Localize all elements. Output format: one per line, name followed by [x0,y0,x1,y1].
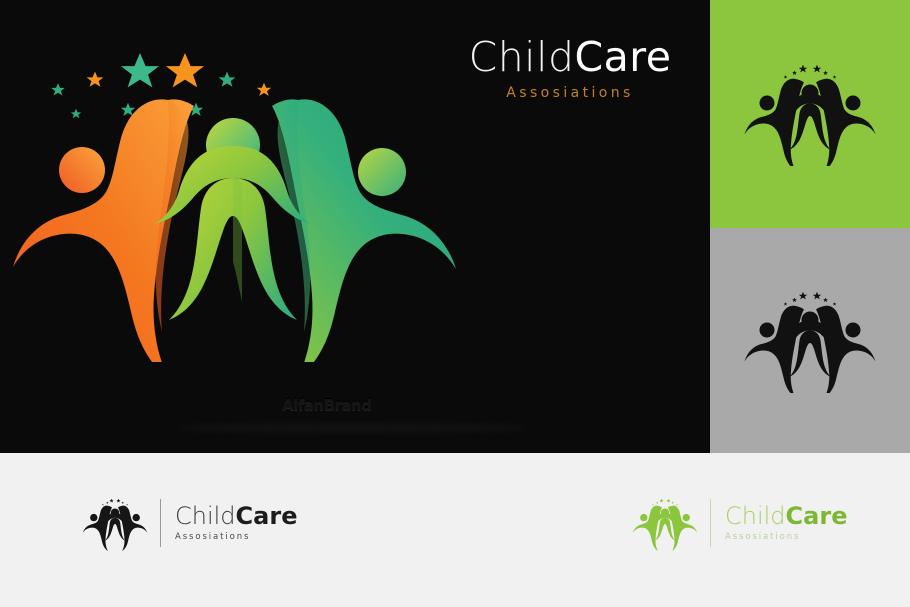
lockup-divider [710,499,711,547]
lockup-green: ChildCare Assosiations [628,495,847,551]
bottom-lockup-band: ChildCare Assosiations [0,453,910,607]
lockup-title-part1: Child [175,502,236,530]
lockup-text-green: ChildCare Assosiations [725,504,847,542]
swatch-green-panel [710,0,910,228]
hero-tagline: Assosiations [450,85,690,101]
lockup-title: ChildCare [725,504,847,528]
hero-wordmark: ChildCare Assosiations [450,33,690,101]
brand-name-part1: Child [469,33,575,81]
childcare-logo-mark-color [8,52,488,362]
lockup-title-part1: Child [725,502,786,530]
childcare-logo-mark-black-on-gray [735,289,885,393]
swatch-gray-panel [710,228,910,453]
lockup-text-black: ChildCare Assosiations [175,504,297,542]
hero-brand-name: ChildCare [450,33,690,81]
logo-presentation-canvas: ChildCare Assosiations AlfanBrand [0,0,910,607]
childcare-logo-mark-green [628,495,702,551]
lockup-subtitle: Assosiations [725,533,847,542]
right-figure-green [272,99,456,362]
hero-drop-shadow [175,423,530,433]
lockup-title-part2: Care [786,502,848,530]
brand-name-part2: Care [574,33,671,81]
lockup-divider [160,499,161,547]
lockup-title-part2: Care [236,502,298,530]
lockup-subtitle: Assosiations [175,533,297,542]
watermark-text: AlfanBrand [282,396,371,414]
childcare-logo-mark-black [78,495,152,551]
lockup-black: ChildCare Assosiations [78,495,297,551]
lockup-title: ChildCare [175,504,297,528]
childcare-logo-mark-black-on-green [735,62,885,166]
left-figure-orange [13,99,194,362]
hero-dark-panel: ChildCare Assosiations AlfanBrand [0,0,710,453]
